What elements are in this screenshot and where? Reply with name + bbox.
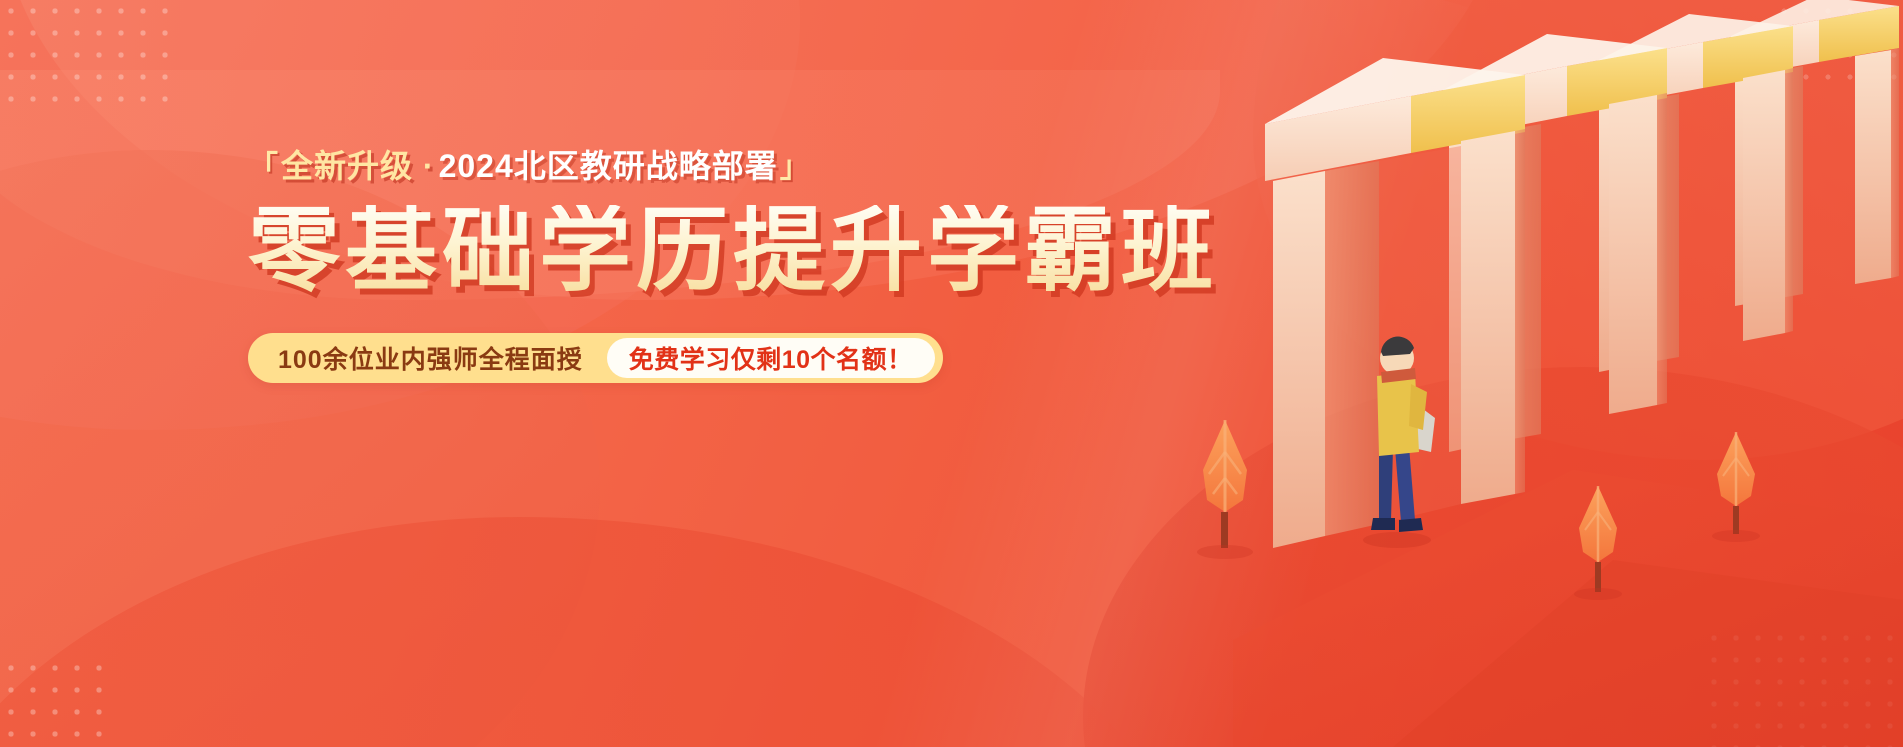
banner-eyebrow: 「 全新升级 · 2024北区教研战略部署 」 — [248, 150, 1218, 183]
eyebrow-gold-text: 全新升级 · — [279, 150, 437, 182]
book-arch-1 — [1265, 58, 1525, 548]
eyebrow-close-bracket: 」 — [780, 153, 811, 183]
pill-seats-text: 免费学习仅剩10个名额！ — [629, 340, 913, 376]
dot-grid-bottom-left — [0, 657, 110, 747]
pill-seats-badge[interactable]: 免费学习仅剩10个名额！ — [607, 338, 935, 378]
promo-banner: 「 全新升级 · 2024北区教研战略部署 」 零基础学历提升学霸班 100余位… — [0, 0, 1903, 747]
banner-headline: 零基础学历提升学霸班 — [248, 205, 1218, 297]
tree-left — [1197, 420, 1253, 559]
pill-feature-text: 100余位业内强师全程面授 — [278, 340, 607, 376]
banner-text-content: 「 全新升级 · 2024北区教研战略部署 」 零基础学历提升学霸班 100余位… — [248, 150, 1218, 383]
book-arch-illustration — [1143, 0, 1903, 747]
eyebrow-white-text: 2024北区教研战略部署 — [437, 150, 780, 182]
banner-feature-pill[interactable]: 100余位业内强师全程面授 免费学习仅剩10个名额！ — [248, 333, 943, 383]
eyebrow-open-bracket: 「 — [248, 153, 279, 183]
dot-grid-top-left — [0, 0, 175, 110]
